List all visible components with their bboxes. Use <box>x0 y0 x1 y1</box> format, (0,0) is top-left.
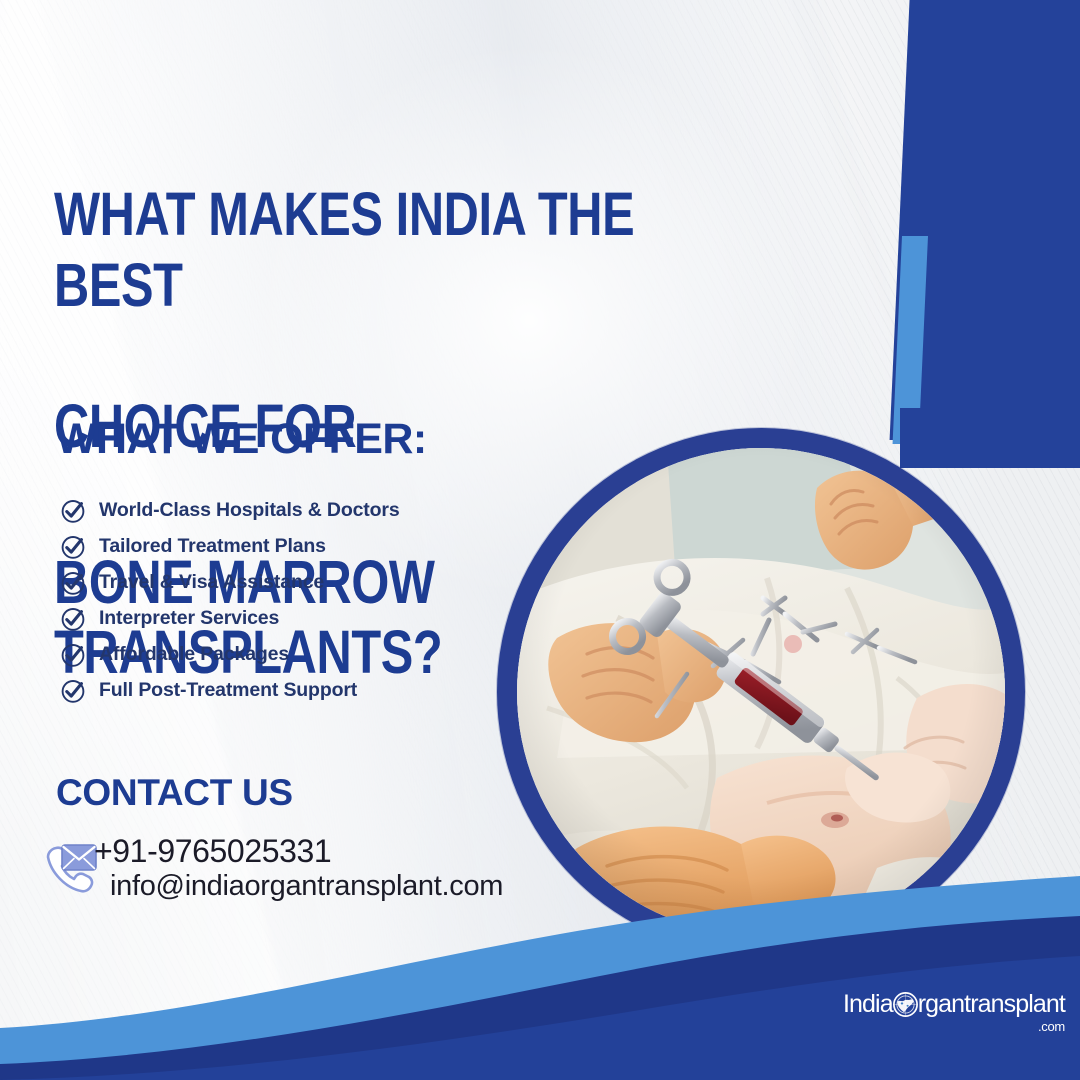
list-item-label: Travel & Visa Assistance <box>99 571 324 594</box>
list-item: World-Class Hospitals & Doctors <box>60 493 520 528</box>
list-item: Affordable Packages <box>60 637 520 672</box>
globe-icon <box>892 991 919 1018</box>
check-circle-icon <box>60 570 86 596</box>
check-circle-icon <box>60 678 86 704</box>
list-item-label: Full Post-Treatment Support <box>99 679 357 702</box>
list-item-label: Tailored Treatment Plans <box>99 535 326 558</box>
list-item: Full Post-Treatment Support <box>60 673 520 708</box>
logo-text-after: rgantransplant <box>918 992 1065 1017</box>
contact-section-title: CONTACT US <box>56 772 293 814</box>
check-circle-icon <box>60 606 86 632</box>
list-item-label: Interpreter Services <box>99 607 279 630</box>
check-circle-icon <box>60 642 86 668</box>
check-circle-icon <box>60 534 86 560</box>
bottom-wave-decoration <box>0 850 1080 1080</box>
offer-list: World-Class Hospitals & Doctors Tailored… <box>60 493 520 708</box>
check-circle-icon <box>60 498 86 524</box>
list-item-label: Affordable Packages <box>99 643 289 666</box>
list-item: Interpreter Services <box>60 601 520 636</box>
logo-tld: .com <box>843 1019 1065 1034</box>
offer-section-title: WHAT WE OFFER: <box>56 415 427 464</box>
list-item: Travel & Visa Assistance <box>60 565 520 600</box>
list-item: Tailored Treatment Plans <box>60 529 520 564</box>
headline-line-1: WHAT MAKES INDIA THE BEST <box>54 179 758 321</box>
logo-text-before: India <box>843 992 893 1017</box>
brand-logo[interactable]: India rgantransplant .com <box>843 991 1065 1034</box>
poster-canvas: WHAT MAKES INDIA THE BEST CHOICE FOR BON… <box>0 0 1080 1080</box>
list-item-label: World-Class Hospitals & Doctors <box>99 499 400 522</box>
right-panel-notch <box>900 408 1080 468</box>
